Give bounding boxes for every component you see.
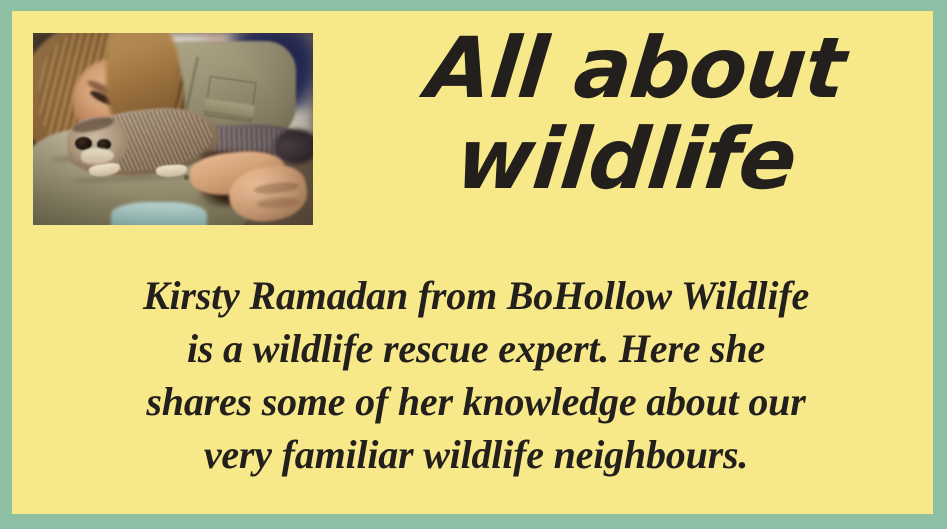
body-line-1: Kirsty Ramadan from BoHollow Wildlife — [40, 269, 912, 322]
wildlife-carer-photo — [33, 33, 313, 225]
headline-line-1: All about — [342, 21, 930, 116]
headline-line-2: wildlife — [332, 112, 920, 207]
banner-headline: All about wildlife — [332, 21, 930, 207]
photo-vignette — [33, 33, 313, 225]
body-line-4: very familiar wildlife neighbours. — [40, 428, 912, 481]
body-line-3: shares some of her knowledge about our — [40, 375, 912, 428]
banner-inner-panel: All about wildlife Kirsty Ramadan from B… — [12, 11, 933, 514]
body-line-2: is a wildlife rescue expert. Here she — [40, 322, 912, 375]
wildlife-banner: All about wildlife Kirsty Ramadan from B… — [0, 0, 947, 529]
banner-body-copy: Kirsty Ramadan from BoHollow Wildlife is… — [40, 269, 912, 481]
